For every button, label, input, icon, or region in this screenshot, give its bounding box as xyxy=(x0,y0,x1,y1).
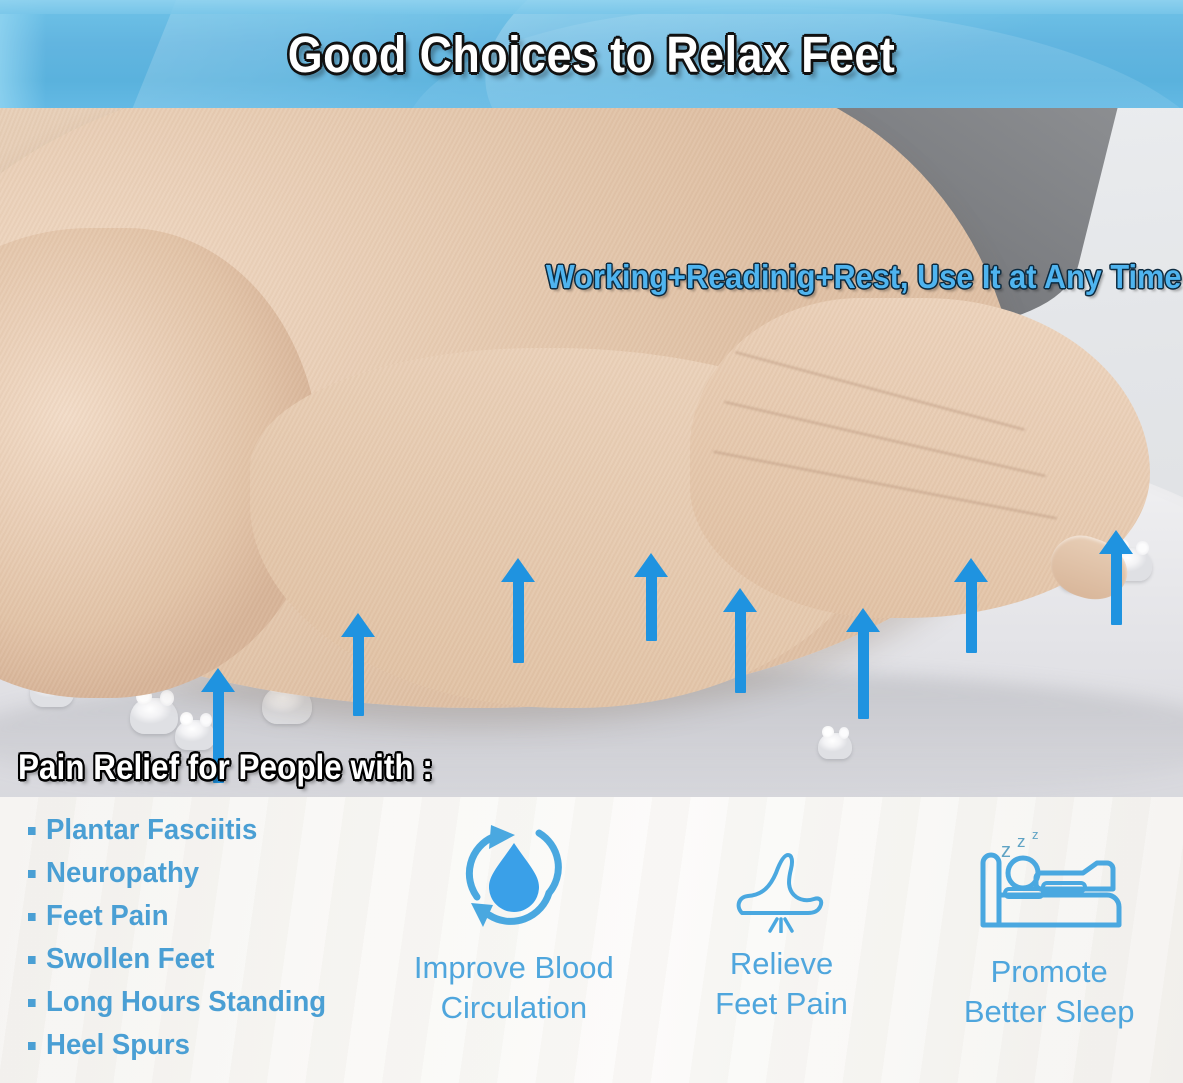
benefit-caption: PromoteBetter Sleep xyxy=(964,952,1135,1032)
list-item-label: Long Hours Standing xyxy=(46,981,326,1024)
sleeping-person-bed-icon: z z z xyxy=(975,817,1123,946)
pressure-arrow xyxy=(727,588,753,693)
list-item-label: Plantar Fasciitis xyxy=(46,809,257,852)
svg-text:z: z xyxy=(1001,840,1011,862)
header-banner: Good Choices to Relax Feet xyxy=(0,0,1183,108)
list-item-label: Neuropathy xyxy=(46,852,199,895)
condition-list: Plantar Fasciitis Neuropathy Feet Pain S… xyxy=(28,809,388,1067)
bullet-marker-icon xyxy=(28,1042,36,1050)
list-item: Swollen Feet xyxy=(28,938,370,981)
svg-text:z: z xyxy=(1017,832,1026,851)
benefit-caption: RelieveFeet Pain xyxy=(715,944,848,1024)
list-item-label: Heel Spurs xyxy=(46,1024,190,1067)
benefits-panel: Plantar Fasciitis Neuropathy Feet Pain S… xyxy=(0,797,1183,1083)
list-item-label: Swollen Feet xyxy=(46,938,214,981)
list-item: Plantar Fasciitis xyxy=(28,809,370,852)
pain-relief-heading: Pain Relief for People with : xyxy=(18,748,433,788)
bullet-marker-icon xyxy=(28,999,36,1007)
pressure-arrow xyxy=(1103,530,1129,625)
pressure-arrow xyxy=(505,558,531,663)
photo-subtitle: Working+Readinig+Rest, Use It at Any Tim… xyxy=(545,258,1181,296)
foot-pain-relief-icon xyxy=(722,847,842,938)
benefit-caption: Improve BloodCirculation xyxy=(414,948,614,1028)
bullet-marker-icon xyxy=(28,956,36,964)
svg-text:z: z xyxy=(1032,827,1039,842)
list-item: Neuropathy xyxy=(28,852,370,895)
list-item: Heel Spurs xyxy=(28,1024,370,1067)
banner-left-glow xyxy=(0,0,46,108)
water-drop-circulation-icon xyxy=(453,819,575,942)
benefit-item-sleep: z z z PromoteBetter Sleep xyxy=(915,797,1183,1032)
product-infographic: Good Choices to Relax Feet xyxy=(0,0,1183,1083)
bullet-marker-icon xyxy=(28,913,36,921)
pressure-arrow xyxy=(958,558,984,653)
benefit-item-feet-pain: RelieveFeet Pain xyxy=(648,797,916,1024)
benefit-item-circulation: Improve BloodCirculation xyxy=(380,797,648,1028)
pressure-arrow xyxy=(638,553,664,641)
bullet-marker-icon xyxy=(28,870,36,878)
list-item: Long Hours Standing xyxy=(28,981,370,1024)
pressure-arrow xyxy=(345,613,371,716)
pressure-arrow xyxy=(850,608,876,719)
product-photo: Working+Readinig+Rest, Use It at Any Tim… xyxy=(0,108,1183,797)
list-item: Feet Pain xyxy=(28,895,370,938)
page-title: Good Choices to Relax Feet xyxy=(71,0,1112,108)
bullet-marker-icon xyxy=(28,827,36,835)
benefit-list: Improve BloodCirculation RelieveFeet Pai… xyxy=(380,797,1183,1083)
list-item-label: Feet Pain xyxy=(46,895,168,938)
